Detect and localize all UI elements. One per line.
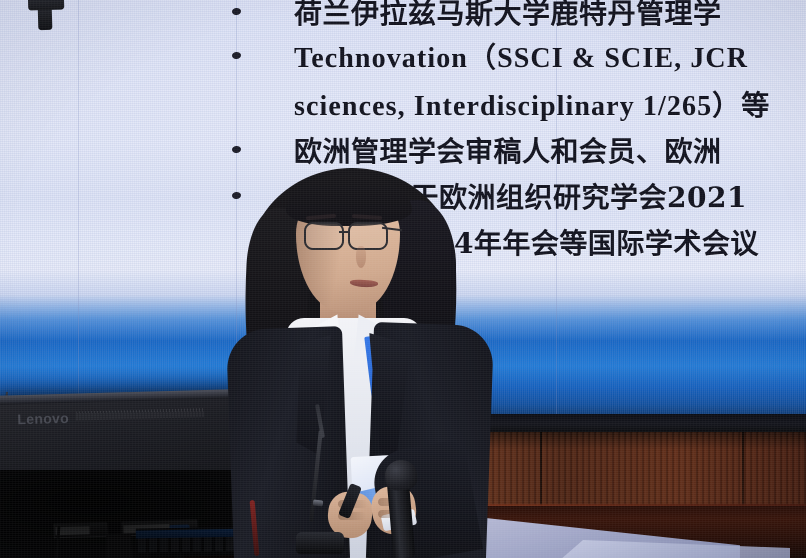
bullet-marker-1 (232, 8, 241, 16)
monitor-vent-grille (76, 408, 204, 421)
slide-bullet-line-2: Technovation（SSCI & SCIE, JCR (294, 36, 748, 76)
conference-photo: 荷兰伊拉兹马斯大学鹿特丹管理学 Technovation（SSCI & SCIE… (0, 0, 806, 558)
slide-bullet-line-1: 荷兰伊拉兹马斯大学鹿特丹管理学 (294, 0, 722, 32)
glasses-lens-left (304, 222, 344, 250)
lenovo-brand-logo: Lenovo (17, 410, 69, 427)
monitor-stand-neck (106, 533, 133, 558)
monitor-sticker-left (55, 526, 89, 535)
gooseneck-mic-base[interactable] (296, 532, 344, 554)
bullet-marker-2 (232, 52, 241, 60)
slide-bullet-line-3: sciences, Interdisciplinary 1/265）等 (294, 84, 770, 124)
speaker-figure (232, 160, 492, 558)
gooseneck-mic-collar (313, 499, 324, 506)
glasses-bridge (339, 231, 350, 233)
bullet-marker-3 (232, 146, 241, 154)
clip-on-webcam[interactable] (28, 0, 65, 10)
nose (356, 246, 366, 268)
